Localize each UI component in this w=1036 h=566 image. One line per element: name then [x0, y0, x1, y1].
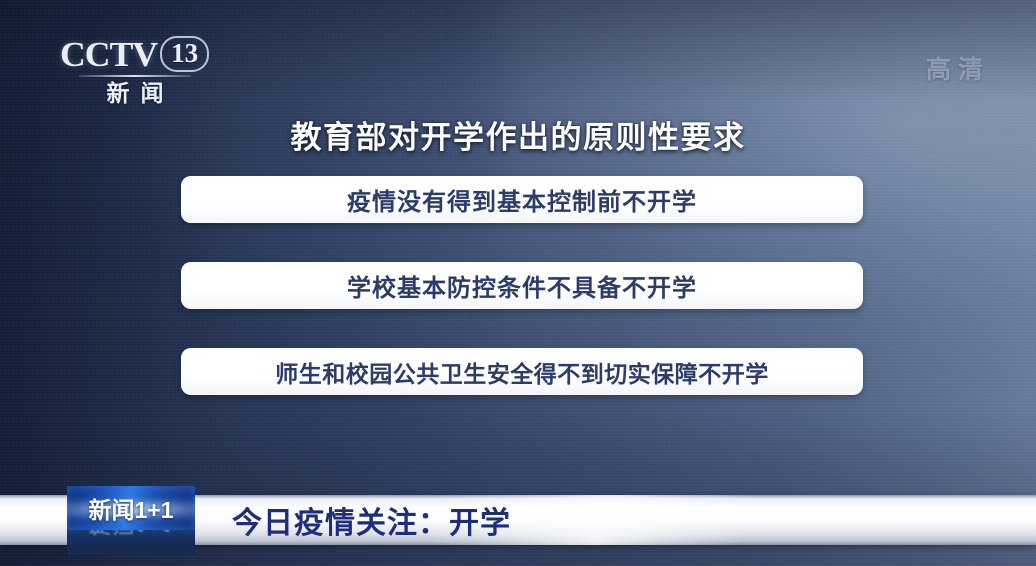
- program-logo-label: 新闻1+1: [88, 491, 173, 525]
- program-logo-face: 新闻1+1: [67, 486, 195, 530]
- bullet-item: 疫情没有得到基本控制前不开学: [181, 176, 863, 223]
- program-logo-reflection-fade: [67, 530, 195, 555]
- lower-third-title: 今日疫情关注：开学: [232, 495, 511, 545]
- headline-title: 教育部对开学作出的原则性要求: [0, 112, 1036, 157]
- bullet-item: 师生和校园公共卫生安全得不到切实保障不开学: [181, 348, 863, 395]
- lower-third-title-label: 今日疫情关注：开学: [232, 498, 511, 542]
- channel-logo-underline: [79, 75, 191, 77]
- channel-number-badge: 13: [160, 36, 209, 72]
- program-logo: 新闻1+1 新闻1+1: [67, 486, 195, 555]
- cctv-wordmark: CCTV: [60, 37, 157, 72]
- program-logo-reflection: 新闻1+1: [67, 530, 195, 555]
- bullet-item-label: 学校基本防控条件不具备不开学: [347, 268, 697, 303]
- bullet-list: 疫情没有得到基本控制前不开学 学校基本防控条件不具备不开学 师生和校园公共卫生安…: [181, 176, 863, 395]
- bullet-item: 学校基本防控条件不具备不开学: [181, 262, 863, 309]
- lower-third-banner: 新闻1+1 新闻1+1 今日疫情关注：开学: [0, 495, 1036, 545]
- broadcast-frame: CCTV 13 新闻 高清 教育部对开学作出的原则性要求 疫情没有得到基本控制前…: [0, 0, 1036, 566]
- channel-logo-subtitle: 新闻: [55, 82, 215, 105]
- bullet-item-label: 疫情没有得到基本控制前不开学: [347, 182, 697, 217]
- bullet-item-label: 师生和校园公共卫生安全得不到切实保障不开学: [275, 355, 769, 389]
- channel-logo: CCTV 13 新闻: [55, 36, 215, 105]
- hd-watermark: 高清: [926, 50, 990, 86]
- channel-logo-row: CCTV 13: [55, 36, 215, 72]
